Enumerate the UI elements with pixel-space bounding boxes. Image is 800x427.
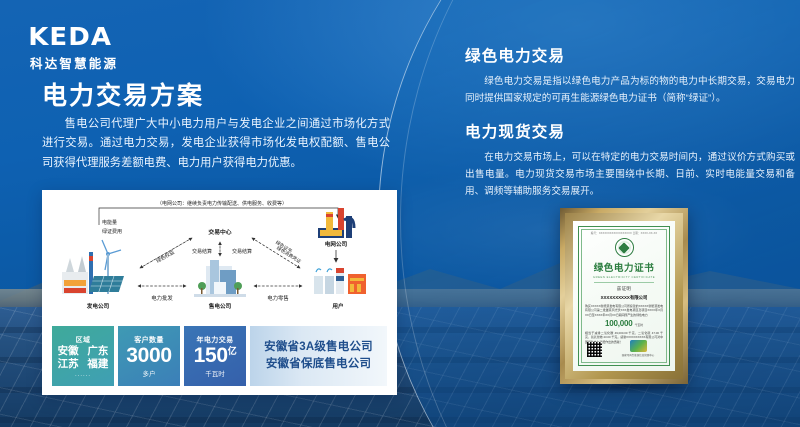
- left-column: 电力交易方案 售电公司代理广大中小电力用户与发电企业之间通过市场化方式进行交易。…: [0, 0, 420, 427]
- stat-region-row-1: 安徽 广东: [58, 345, 109, 358]
- region-anhui: 安徽: [58, 345, 79, 357]
- certificate-company: XXXXXXXXXX有限公司: [582, 295, 666, 301]
- stat-region: 区域 安徽 广东 江苏 福建 ......: [52, 326, 114, 386]
- certificate-frame-inner: 编号：XXXXXXXXXXXXXXXXXX 日期：XXXX-XX-XX 绿色电力…: [565, 213, 683, 379]
- certificate-title: 绿色电力证书: [582, 260, 666, 274]
- diagram-card: （电网公司：继续负责电力传输配送、供电服务、收费等） 电能量 绿证费用: [42, 190, 397, 395]
- stat-annual-value-wrap: 150亿: [194, 345, 237, 367]
- diagram-left-note-1: 电能量: [102, 219, 117, 226]
- right-column: 绿色电力交易 绿色电力交易是指以绿色电力产品为标的物的电力中长期交易，交易电力同…: [455, 0, 800, 427]
- grid-company-icon: [318, 208, 354, 238]
- diagram-node-generator: 发电公司: [86, 302, 110, 310]
- stats-row: 区域 安徽 广东 江苏 福建 ...... 客户数量 3000: [52, 326, 387, 386]
- section-1-heading: 绿色电力交易: [465, 44, 795, 66]
- badge-line-1: 安徽省3A级售电公司: [264, 339, 373, 356]
- stat-annual-value: 150: [194, 344, 228, 367]
- stat-customer-caption: 客户数量: [134, 335, 164, 345]
- stat-annual-foot: 千瓦时: [205, 368, 225, 378]
- diagram-settle-left: 交易结算: [192, 248, 212, 255]
- diagram-node-user: 用户: [331, 302, 343, 310]
- diagram-settle-right: 交易结算: [232, 248, 252, 255]
- diagram-left-note-2: 绿证费用: [102, 228, 122, 235]
- stat-annual-trading: 年电力交易 150亿 千瓦时: [184, 326, 246, 386]
- diagram-top-note: （电网公司：继续负责电力传输配送、供电服务、收费等）: [157, 200, 287, 207]
- section-2-body: 在电力交易市场上，可以在特定的电力交易时间内，通过议价方式购买或出售电量。电力现…: [465, 149, 795, 200]
- poster-canvas: KEDA 科达智慧能源 电力交易方案 售电公司代理广大中小电力用户与发电企业之间…: [0, 0, 800, 427]
- section-2-heading: 电力现货交易: [465, 120, 795, 142]
- certificate-content: 编号：XXXXXXXXXXXXXXXXXX 日期：XXXX-XX-XX 绿色电力…: [582, 230, 666, 362]
- badge-line-2: 安徽省保底售电公司: [266, 356, 371, 373]
- certificate-org: 国家可再生能源信息管理中心: [615, 353, 661, 357]
- certificate-paragraph: 购买XXXXX新能源发电有限公司所投建的XXXXX新能源发电有限公司第二批邋真风…: [582, 304, 666, 317]
- user-icon: [314, 268, 366, 294]
- stat-region-caption: 区域: [76, 335, 91, 345]
- qr-code-icon: [587, 342, 602, 357]
- stat-region-row-2: 江苏 福建: [58, 358, 109, 371]
- diagram-center-label: 交易中心: [208, 228, 231, 236]
- stat-customer-count: 客户数量 3000 多户: [118, 326, 180, 386]
- certificate-paper: 编号：XXXXXXXXXXXXXXXXXX 日期：XXXX-XX-XX 绿色电力…: [573, 221, 675, 371]
- certificate-amount: 100,000: [605, 319, 633, 328]
- region-fujian: 福建: [87, 358, 108, 370]
- certificate-frame-outer: 编号：XXXXXXXXXXXXXXXXXX 日期：XXXX-XX-XX 绿色电力…: [560, 208, 688, 384]
- stat-annual-caption: 年电力交易: [197, 335, 234, 345]
- retailer-company-icon: [194, 260, 246, 297]
- certificate-amount-wrap: 100,000 千瓦时: [582, 319, 666, 328]
- diagram-node-grid: 电网公司: [325, 240, 348, 248]
- certificate-serial: 编号：XXXXXXXXXXXXXXXXXX 日期：XXXX-XX-XX: [582, 231, 666, 235]
- diagram-green-rights: 绿色权益: [155, 249, 176, 265]
- section-green-power-trading: 绿色电力交易 绿色电力交易是指以绿色电力产品为标的物的电力中长期交易，交易电力同…: [465, 44, 795, 107]
- certificate-rule: [594, 282, 654, 283]
- stat-annual-unit: 亿: [228, 346, 237, 356]
- stat-customer-value: 3000: [126, 345, 172, 367]
- section-1-body: 绿色电力交易是指以绿色电力产品为标的物的电力中长期交易，交易电力同时提供国家规定…: [465, 73, 795, 107]
- generator-company-icon: [62, 240, 124, 294]
- section-spot-trading: 电力现货交易 在电力交易市场上，可以在特定的电力交易时间内，通过议价方式购买或出…: [465, 120, 795, 200]
- certificate-seal-icon: [615, 238, 634, 257]
- region-jiangsu: 江苏: [58, 358, 79, 370]
- diagram-wholesale-label: 电力批发: [151, 294, 173, 302]
- certificate-bottom-row: 国家可再生能源信息管理中心: [582, 340, 666, 357]
- certificate-issuer: 国家可再生能源信息管理中心: [615, 340, 661, 357]
- page-lead-paragraph: 售电公司代理广大中小电力用户与发电企业之间通过市场化方式进行交易。通过电力交易，…: [42, 115, 390, 173]
- diagram-retail-label: 电力零售: [267, 294, 289, 302]
- region-guangdong: 广东: [87, 345, 108, 357]
- page-title: 电力交易方案: [42, 76, 204, 112]
- stat-region-dots: ......: [75, 372, 91, 378]
- qualification-badge: KEDA 安徽省3A级售电公司 安徽省保底售电公司: [250, 326, 387, 386]
- green-certificate-photo: 编号：XXXXXXXXXXXXXXXXXX 日期：XXXX-XX-XX 绿色电力…: [560, 208, 688, 384]
- certificate-amount-unit: 千瓦时: [635, 323, 643, 327]
- issuer-logo-icon: [630, 340, 647, 352]
- diagram-node-retailer: 售电公司: [209, 302, 232, 310]
- stat-customer-foot: 多户: [143, 368, 156, 378]
- power-trading-flow-diagram: （电网公司：继续负责电力传输配送、供电服务、收费等） 电能量 绿证费用: [42, 190, 397, 328]
- certificate-kind: 兹证明: [582, 286, 666, 292]
- certificate-subtitle: GREEN ELECTRICITY CERTIFICATE: [582, 275, 666, 279]
